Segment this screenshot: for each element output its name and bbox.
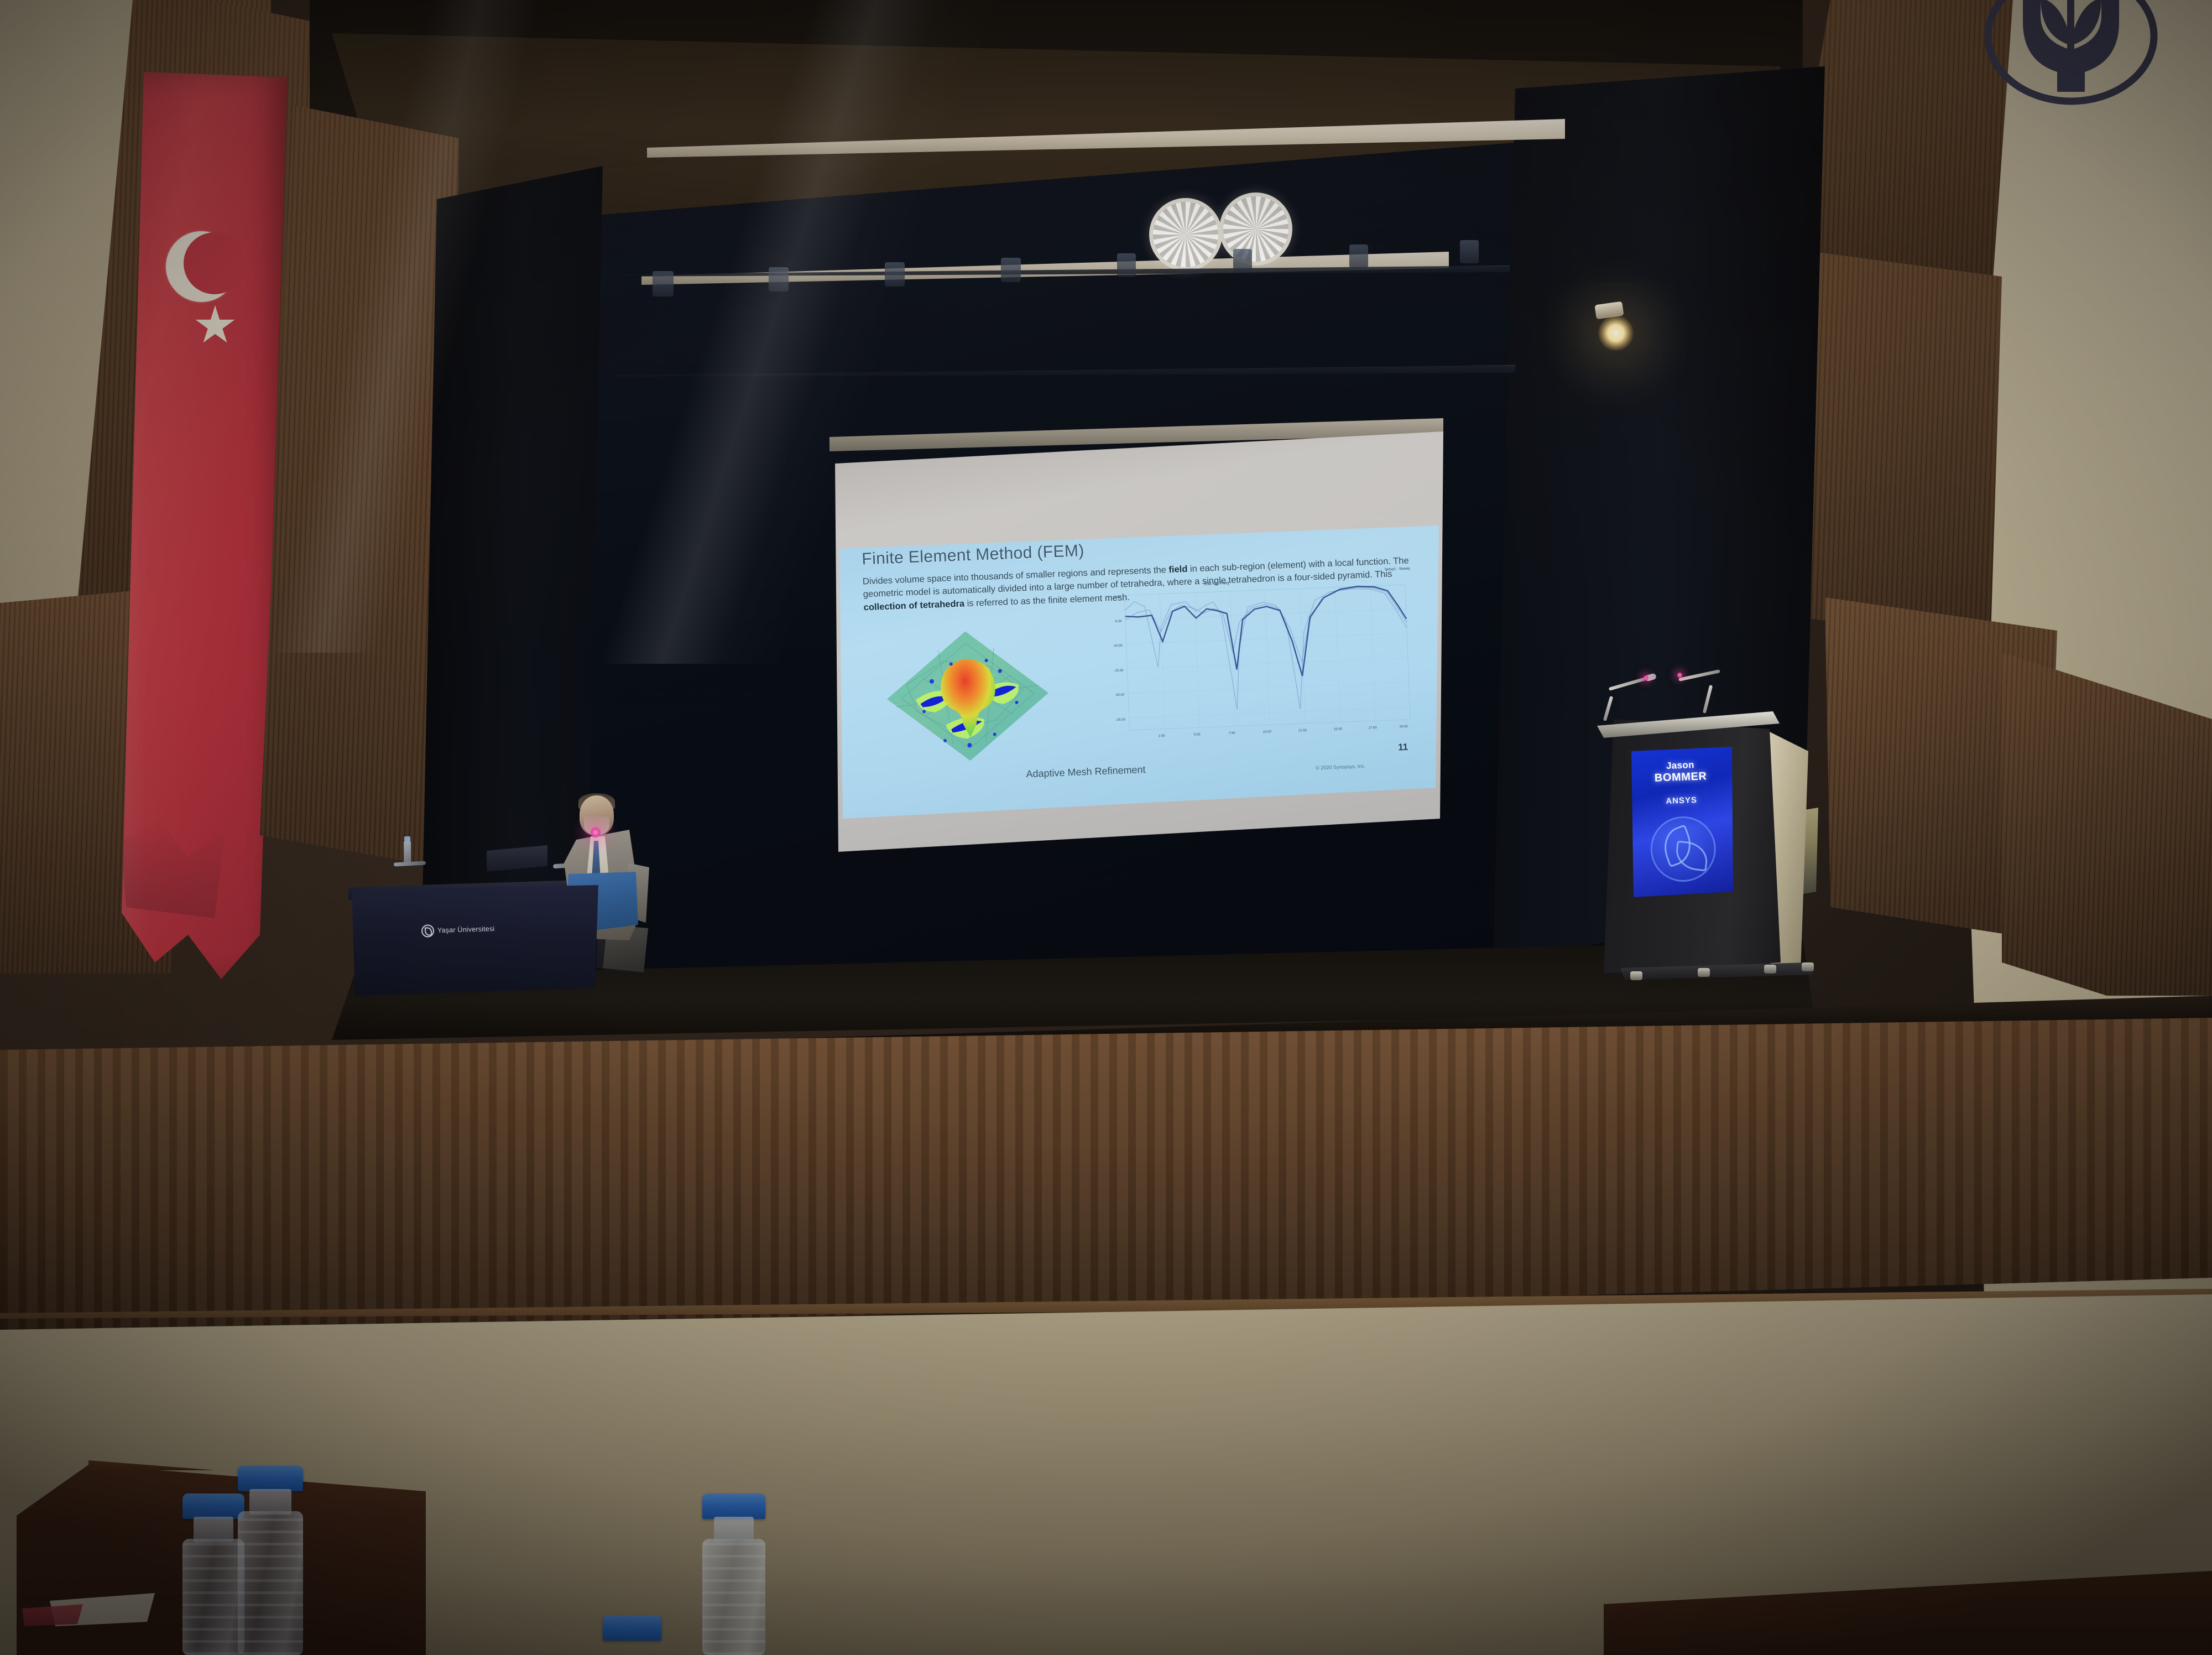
ansys-leaf-logo-icon	[1650, 815, 1717, 883]
bottle-body-1	[182, 1539, 244, 1655]
podium-speaker-last-name: BOMMER	[1654, 770, 1707, 784]
svg-text:-10.00: -10.00	[1113, 644, 1123, 648]
slide-copyright: © 2020 Synopsys, Inc.	[1316, 763, 1366, 771]
podium-speaker-organization: ANSYS	[1666, 795, 1697, 806]
bottle-cap-4	[603, 1615, 661, 1641]
table-banner-logo-group: Yaşar Üniversitesi	[421, 919, 533, 939]
svg-text:-25.00: -25.00	[1116, 718, 1126, 722]
flag-crescent-cutout	[184, 232, 246, 294]
podium-caster-1	[1630, 971, 1642, 980]
presentation-slide: Finite Element Method (FEM) Divides volu…	[839, 525, 1439, 819]
truss-light-5	[1117, 253, 1136, 277]
svg-text:2.50: 2.50	[1159, 735, 1166, 738]
podium-name-display: Jason BOMMER ANSYS	[1631, 747, 1733, 897]
svg-text:7.50: 7.50	[1229, 732, 1236, 735]
table-water-bottle-cap	[404, 836, 410, 841]
speaker-table-skirt	[352, 885, 598, 996]
podium-caster-3	[1764, 965, 1776, 974]
svg-text:15.00: 15.00	[1334, 727, 1343, 731]
podium-speaker-first-name: Jason	[1666, 759, 1694, 772]
svg-text:-15.00: -15.00	[1114, 669, 1124, 673]
chart-svg: 0.00 -5.00 -10.00 -15.00 -20.00 -25.00 2…	[1102, 574, 1418, 752]
podium-mic-led-icon-right	[1677, 673, 1682, 678]
truss-light-7	[1349, 244, 1368, 268]
bottle-cap-1	[182, 1493, 244, 1519]
bottle-body-3	[702, 1539, 765, 1655]
svg-text:17.50: 17.50	[1369, 726, 1378, 730]
university-emblem-small-icon	[421, 924, 435, 938]
spotlight-glow-icon	[1598, 315, 1634, 351]
ceiling-air-vent-icon-2	[1219, 192, 1292, 266]
table-water-bottle	[404, 841, 411, 864]
adaptive-mesh-field-figure	[882, 624, 1053, 768]
water-bottle-1	[182, 1493, 244, 1655]
truss-light-6	[1233, 249, 1252, 272]
truss-light-1	[653, 271, 674, 296]
svg-text:5.00: 5.00	[1194, 733, 1201, 736]
water-bottle-3	[702, 1493, 765, 1655]
truss-light-4	[1001, 258, 1021, 282]
slide-page-number: 11	[1398, 742, 1408, 753]
svg-text:0.00: 0.00	[1114, 596, 1121, 599]
svg-text:-5.00: -5.00	[1114, 620, 1123, 623]
podium-caster-2	[1698, 968, 1710, 977]
bottle-cap-2	[238, 1466, 303, 1491]
water-bottle-2	[238, 1466, 303, 1655]
bottle-cap-3	[702, 1493, 765, 1519]
podium-caster-4	[1802, 962, 1814, 971]
slide-figure-caption: Adaptive Mesh Refinement	[1026, 764, 1146, 780]
table-banner-text: Yaşar Üniversitesi	[437, 925, 495, 934]
truss-light-8	[1460, 240, 1479, 263]
svg-text:10.00: 10.00	[1263, 730, 1272, 734]
presenter-mic-led-icon	[589, 826, 602, 839]
s11-vs-frequency-chart: S11 vs. Freq Setup1 : Sweep	[1102, 574, 1418, 757]
svg-text:12.50: 12.50	[1298, 729, 1307, 733]
svg-text:-20.00: -20.00	[1115, 693, 1125, 697]
truss-light-2	[769, 267, 789, 292]
bottle-body-2	[238, 1511, 303, 1655]
ceiling-air-vent-icon-1	[1149, 198, 1222, 271]
svg-text:20.00: 20.00	[1400, 725, 1408, 729]
water-bottle-4	[603, 1615, 661, 1655]
chart-title: S11 vs. Freq	[1204, 580, 1229, 586]
truss-light-3	[885, 262, 905, 287]
auditorium-photo-scene: Finite Element Method (FEM) Divides volu…	[0, 0, 2212, 1655]
podium-mic-led-icon-left	[1644, 675, 1648, 680]
university-emblem-icon	[1980, 0, 2162, 111]
